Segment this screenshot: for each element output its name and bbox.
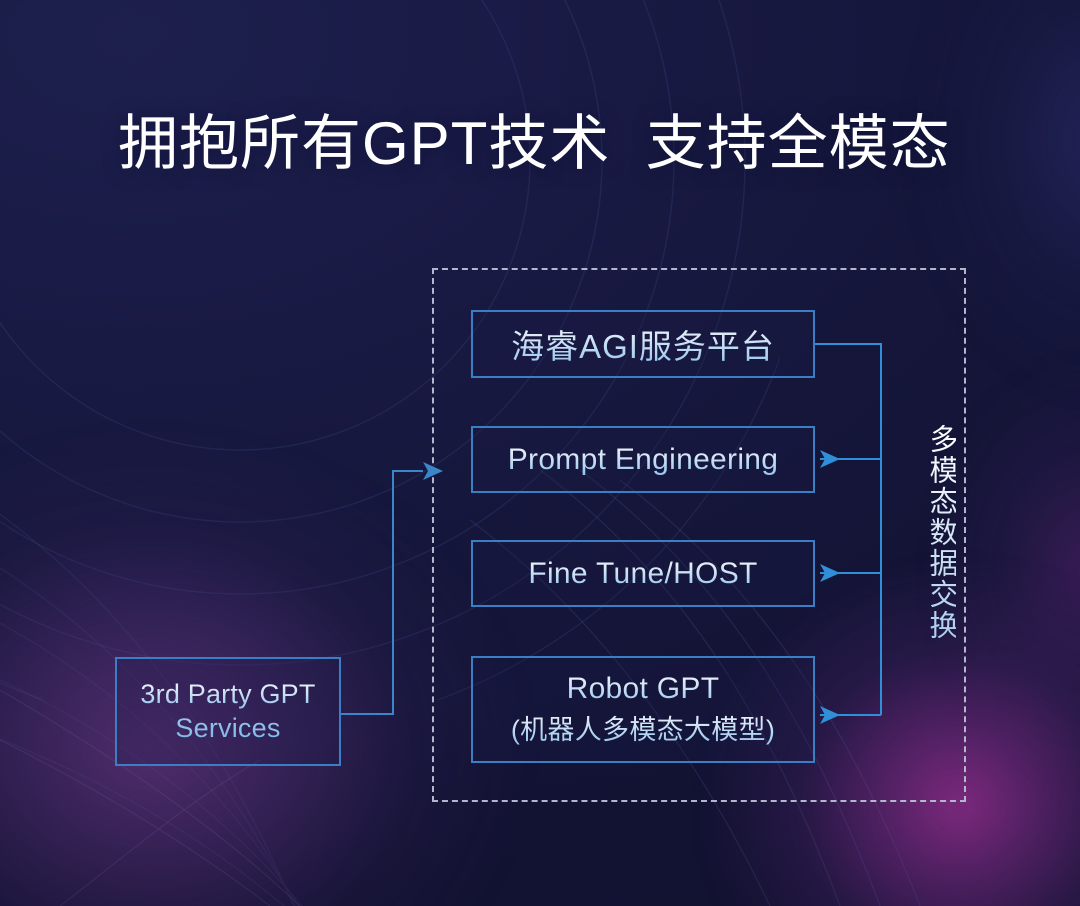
node-fine-tune-host-label: Fine Tune/HOST — [528, 557, 757, 591]
node-robot-gpt[interactable]: Robot GPT (机器人多模态大模型) — [471, 656, 815, 763]
node-agi-platform[interactable]: 海睿AGI服务平台 — [471, 310, 815, 378]
page-title: 拥抱所有GPT技术 支持全模态 — [118, 110, 951, 177]
node-prompt-engineering[interactable]: Prompt Engineering — [471, 426, 815, 493]
node-third-party-gpt-label: 3rd Party GPT — [140, 679, 315, 710]
slide-canvas: 拥抱所有GPT技术 支持全模态 — [0, 0, 1080, 906]
node-robot-gpt-label: Robot GPT — [567, 672, 720, 706]
node-fine-tune-host[interactable]: Fine Tune/HOST — [471, 540, 815, 607]
node-robot-gpt-sublabel: (机器人多模态大模型) — [511, 708, 775, 747]
vertical-label-multimodal-data-exchange: 多模态数据交换 — [912, 424, 956, 641]
node-agi-platform-label: 海睿AGI服务平台 — [511, 320, 775, 368]
node-prompt-engineering-label: Prompt Engineering — [508, 443, 779, 477]
node-third-party-gpt-services[interactable]: 3rd Party GPT Services — [115, 657, 341, 766]
node-third-party-services-label: Services — [175, 713, 280, 744]
